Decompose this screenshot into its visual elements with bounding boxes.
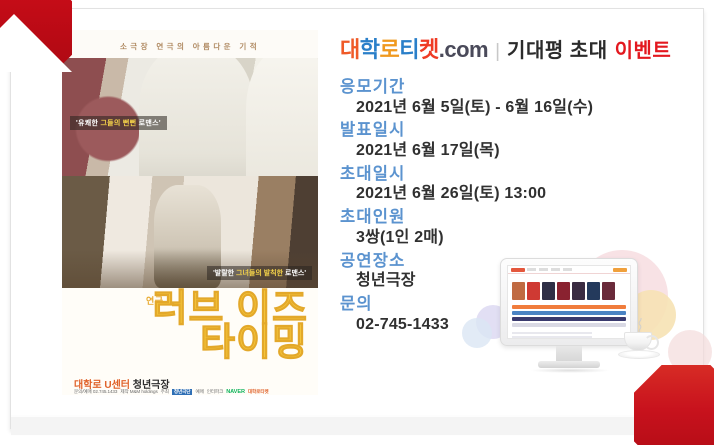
field-value: 2021년 6월 17일(목)	[340, 141, 690, 162]
field-invitation-count: 초대인원 3쌍(1인 2매)	[340, 207, 690, 248]
poster-credit-production: 제작 M&M holdings	[120, 389, 157, 395]
monitor-shadow	[530, 368, 610, 373]
screen-bar	[512, 323, 626, 327]
screen-banner-bars	[508, 303, 630, 331]
poster-photo-top: '유쾌한 그들의 뻔뻔 로맨스'	[62, 58, 318, 176]
field-value: 3쌍(1인 2매)	[340, 228, 690, 249]
screen-menu-item	[539, 268, 548, 271]
monitor-stand-base	[538, 361, 600, 368]
header-event-word: 이벤트	[615, 40, 672, 62]
field-label: 응모기간	[340, 77, 690, 98]
poster-badge-bottom: '발랄한 그녀들의 발칙한 로맨스'	[207, 266, 312, 280]
screen-menu-item	[527, 268, 536, 271]
screen-poster-thumb	[572, 282, 585, 300]
monitor-illustration	[500, 258, 650, 378]
screen-site-logo-icon	[511, 268, 525, 272]
logo-char-4: 티	[399, 37, 419, 62]
field-label: 초대일시	[340, 164, 690, 185]
poster-credits: 문의/예매 02.745.1433 제작 M&M holdings 주최 청년극…	[74, 389, 269, 395]
poster-badge-top-highlight: 그들의 뻔뻔	[100, 120, 136, 127]
field-invitation-datetime: 초대일시 2021년 6월 26일(토) 13:00	[340, 164, 690, 205]
screen-poster-thumb	[512, 282, 525, 300]
field-value: 2021년 6월 26일(토) 13:00	[340, 184, 690, 205]
screen-footer-line	[512, 336, 592, 338]
field-value: 2021년 6월 5일(토) - 6월 16일(수)	[340, 98, 690, 119]
coffee-cup-icon	[618, 320, 666, 368]
screen-menu-item	[551, 268, 560, 271]
poster-credit-host-chip: 청년극단	[172, 389, 193, 395]
screen-poster-thumb	[527, 282, 540, 300]
poster-badge-top-post: 로맨스'	[136, 120, 160, 127]
screen-bar	[512, 305, 626, 309]
poster-badge-top: '유쾌한 그들의 뻔뻔 로맨스'	[70, 116, 167, 130]
poster-badge-bottom-pre: '발랄한	[213, 270, 236, 277]
screen-cta-button	[613, 268, 627, 272]
header-divider: |	[495, 41, 500, 63]
poster-credit-ticket-label: 예매	[195, 389, 203, 395]
logo-char-3: 로	[380, 37, 400, 62]
screen-poster-row	[508, 274, 630, 303]
screen-navbar	[508, 266, 630, 274]
field-label: 초대인원	[340, 207, 690, 228]
header-title: 기대평 초대이벤트	[507, 34, 671, 63]
poster-badge-top-pre: '유쾌한	[76, 120, 100, 127]
poster-badge-bottom-post: 로맨스'	[283, 270, 306, 277]
poster-credit-ticket-daehakro: 대학로티켓	[248, 389, 269, 395]
screen-poster-thumb	[602, 282, 615, 300]
monitor-stand-neck	[556, 346, 582, 362]
poster-badge-bottom-highlight: 그녀들의 발칙한	[236, 270, 283, 277]
field-application-period: 응모기간 2021년 6월 5일(토) - 6월 16일(수)	[340, 77, 690, 118]
cup-body	[624, 332, 652, 351]
poster-photo-bottom: '발랄한 그녀들의 발칙한 로맨스'	[62, 176, 318, 288]
cup-saucer	[618, 350, 660, 359]
poster-credit-ticket-naver: NAVER	[226, 389, 245, 395]
screen-poster-thumb	[557, 282, 570, 300]
event-banner: 소극장 연극의 아름다운 기적 '유쾌한 그들의 뻔뻔 로맨스' '발랄한 그녀…	[0, 0, 714, 445]
poster-credit-ticket-interpark: 인터파크	[207, 389, 224, 395]
field-label: 발표일시	[340, 120, 690, 141]
poster-title-block: 연극 러브 이즈 타이밍 대학로 U센터 청년극장 문의/예매 02.745.1…	[62, 288, 318, 395]
header-row: 대학로티켓.com | 기대평 초대이벤트	[340, 32, 690, 64]
screen-footer-lines	[508, 331, 630, 339]
screen-footer-line	[512, 332, 592, 334]
screen-bar	[512, 317, 626, 321]
screen-poster-thumb	[542, 282, 555, 300]
logo-domain: .com	[439, 37, 488, 62]
screen-bar	[512, 311, 626, 315]
header-title-text: 기대평 초대	[507, 40, 608, 62]
screen-menu	[527, 268, 611, 271]
logo-char-5: 켓	[419, 37, 439, 62]
banner-bottom-strip	[11, 417, 703, 435]
site-logo[interactable]: 대학로티켓.com	[340, 32, 488, 64]
poster-tagline: 소극장 연극의 아름다운 기적	[62, 41, 318, 52]
poster-credit-host: 주최	[161, 389, 169, 395]
poster-credit-inquiry: 문의/예매 02.745.1433	[74, 389, 117, 395]
poster-title-line-2: 타이밍	[200, 324, 308, 362]
play-poster[interactable]: 소극장 연극의 아름다운 기적 '유쾌한 그들의 뻔뻔 로맨스' '발랄한 그녀…	[62, 30, 318, 395]
monitor-screen	[507, 265, 631, 339]
screen-poster-thumb	[587, 282, 600, 300]
logo-char-1: 대	[340, 37, 360, 62]
field-announcement-date: 발표일시 2021년 6월 17일(목)	[340, 120, 690, 161]
screen-menu-item	[563, 268, 572, 271]
logo-char-2: 학	[360, 37, 380, 62]
